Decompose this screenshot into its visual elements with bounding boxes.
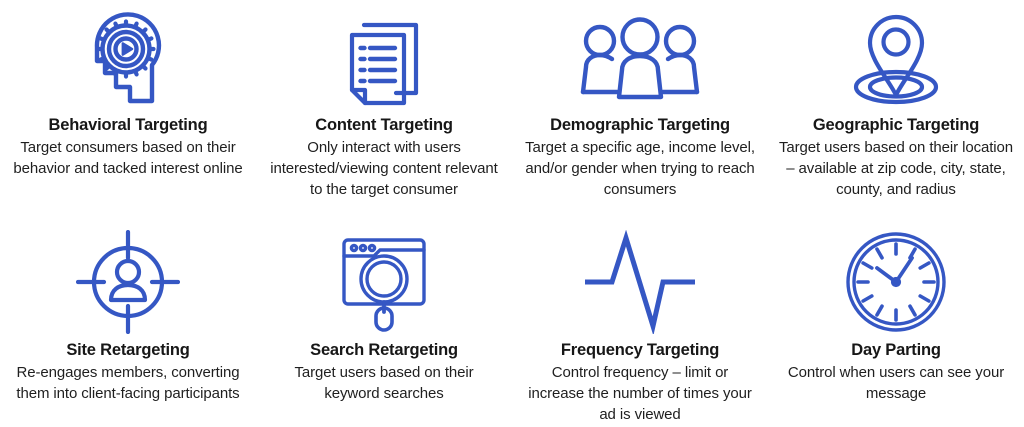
card-content-targeting: Content Targeting Only interact with use… — [256, 0, 512, 220]
card-description: Target users based on their keyword sear… — [266, 362, 502, 405]
card-title: Content Targeting — [315, 115, 452, 136]
card-site-retargeting: Site Retargeting Re-engages members, con… — [0, 220, 256, 427]
card-description: Target a specific age, income level, and… — [522, 137, 758, 201]
card-description: Control when users can see your message — [778, 362, 1014, 405]
card-description: Only interact with users interested/view… — [266, 137, 502, 201]
card-title: Demographic Targeting — [550, 115, 730, 136]
card-day-parting: Day Parting Control when users can see y… — [768, 220, 1024, 427]
three-people-icon — [575, 6, 705, 111]
card-demographic-targeting: Demographic Targeting Target a specific … — [512, 0, 768, 220]
card-title: Behavioral Targeting — [49, 115, 208, 136]
card-behavioral-targeting: Behavioral Targeting Target consumers ba… — [0, 0, 256, 220]
head-gear-play-icon — [78, 6, 178, 111]
card-description: Re-engages members, converting them into… — [10, 362, 246, 405]
card-description: Target users based on their location – a… — [778, 137, 1014, 201]
browser-magnifier-icon — [332, 228, 436, 336]
card-title: Geographic Targeting — [813, 115, 979, 136]
card-title: Frequency Targeting — [561, 340, 719, 361]
targeting-types-grid: Behavioral Targeting Target consumers ba… — [0, 0, 1024, 427]
card-title: Day Parting — [851, 340, 941, 361]
card-title: Search Retargeting — [310, 340, 458, 361]
card-geographic-targeting: Geographic Targeting Target users based … — [768, 0, 1024, 220]
card-search-retargeting: Search Retargeting Target users based on… — [256, 220, 512, 427]
crosshair-person-icon — [76, 228, 180, 336]
card-title: Site Retargeting — [66, 340, 189, 361]
card-frequency-targeting: Frequency Targeting Control frequency – … — [512, 220, 768, 427]
documents-icon — [334, 6, 434, 111]
pulse-waveform-icon — [581, 228, 699, 336]
card-description: Target consumers based on their behavior… — [10, 137, 246, 180]
card-description: Control frequency – limit or increase th… — [522, 362, 758, 426]
clock-icon — [844, 228, 948, 336]
map-pin-icon — [841, 6, 951, 111]
